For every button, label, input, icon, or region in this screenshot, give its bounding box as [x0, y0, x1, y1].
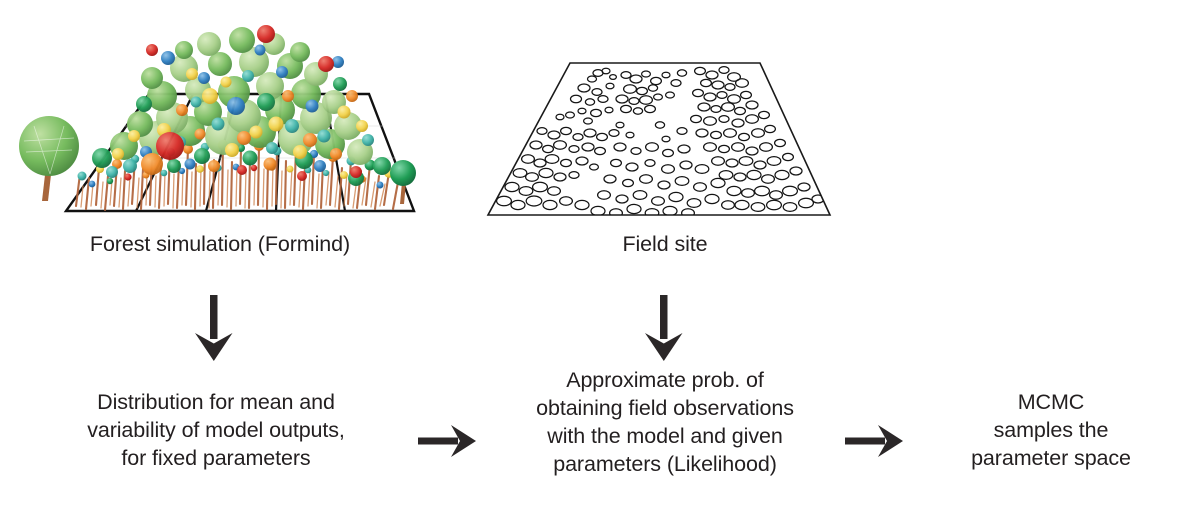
text-block-mcmc: MCMC samples the parameter space: [930, 389, 1172, 473]
likelihood-line-3: with the model and given: [466, 423, 864, 451]
field-site-image: [470, 55, 860, 227]
mcmc-line-3: parameter space: [930, 445, 1172, 473]
foreground-tree: [19, 116, 79, 201]
forest-simulation-image: [4, 6, 434, 228]
distribution-line-3: for fixed parameters: [30, 445, 402, 473]
likelihood-line-4: parameters (Likelihood): [466, 451, 864, 479]
figure-canvas: Forest simulation (Formind) Field site D…: [0, 0, 1186, 519]
arrow-down-icon-field-to-likelihood: [636, 295, 692, 368]
mcmc-line-1: MCMC: [930, 389, 1172, 417]
likelihood-line-2: obtaining field observations: [466, 395, 864, 423]
distribution-line-1: Distribution for mean and: [30, 389, 402, 417]
mcmc-line-2: samples the: [930, 417, 1172, 445]
likelihood-line-1: Approximate prob. of: [466, 367, 864, 395]
text-block-distribution: Distribution for mean and variability of…: [30, 389, 402, 473]
caption-field-site: Field site: [500, 231, 830, 257]
text-block-likelihood: Approximate prob. of obtaining field obs…: [466, 367, 864, 479]
caption-forest-simulation: Forest simulation (Formind): [0, 231, 440, 257]
arrow-down-icon-forest-to-distribution: [186, 295, 242, 368]
distribution-line-2: variability of model outputs,: [30, 417, 402, 445]
